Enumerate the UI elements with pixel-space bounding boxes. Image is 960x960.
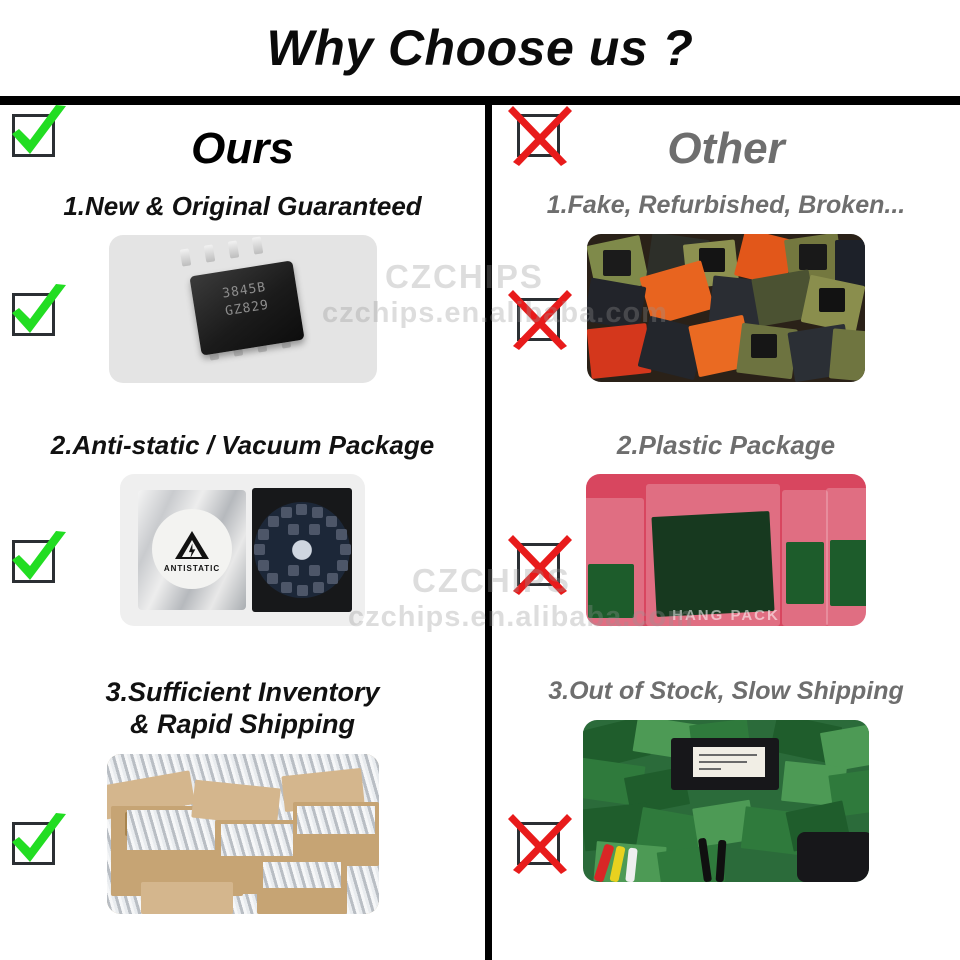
column-other-heading: Other [667, 124, 784, 174]
black-module [671, 738, 779, 790]
page-title-bar: Why Choose us ? [0, 0, 960, 96]
ours-row-3-label-line1: 3.Sufficient Inventory [0, 677, 485, 709]
column-ours-header: Ours [0, 113, 485, 185]
cross-mark-other-header [511, 104, 573, 166]
check-mark-row-2 [6, 530, 68, 592]
new-original-chip-photo: 3845B GZ829 [109, 235, 377, 383]
ours-row-2-label: 2.Anti-static / Vacuum Package [0, 430, 485, 460]
plastic-package-photo: HANG PACK [586, 474, 866, 626]
ours-row-1: 1.New & Original Guaranteed 3845B GZ829 [0, 191, 485, 446]
component-reel-tray [252, 488, 352, 612]
cross-mark-row-1 [511, 288, 573, 350]
ours-row-1-label: 1.New & Original Guaranteed [0, 191, 485, 221]
ours-row-2: 2.Anti-static / Vacuum Package ANTISTATI… [0, 430, 485, 685]
antistatic-bag-label: ANTISTATIC [152, 564, 232, 573]
ours-row-3-label-line2: & Rapid Shipping [0, 709, 485, 741]
chip-marking: 3845B GZ829 [191, 275, 299, 326]
warehouse-boxes-photo [107, 754, 379, 914]
other-row-2-label: 2.Plastic Package [492, 430, 960, 460]
antistatic-label-disc: ANTISTATIC [152, 509, 232, 589]
scrap-chips-photo [587, 234, 865, 382]
check-mark-row-1 [6, 283, 68, 345]
cross-mark-row-2 [511, 533, 573, 595]
check-mark-ours-header [6, 104, 68, 166]
cross-mark-row-3 [511, 812, 573, 874]
other-row-1-label: 1.Fake, Refurbished, Broken... [492, 191, 960, 220]
page-title: Why Choose us ? [267, 19, 694, 77]
other-row-3-label: 3.Out of Stock, Slow Shipping [492, 677, 960, 706]
check-mark-row-3 [6, 812, 68, 874]
ours-row-3: 3.Sufficient Inventory & Rapid Shipping [0, 677, 485, 960]
antistatic-vacuum-package-photo: ANTISTATIC [120, 474, 365, 626]
column-ours-heading: Ours [191, 124, 294, 174]
column-ours: Ours 1.New & Original Guaranteed 3845B G… [0, 105, 485, 960]
pcb-scrap-photo [583, 720, 869, 882]
chip-body: 3845B GZ829 [189, 261, 304, 356]
component-reel [254, 502, 350, 598]
plastic-package-overlay-text: HANG PACK [586, 607, 866, 624]
column-divider-line [485, 101, 492, 960]
antistatic-bag: ANTISTATIC [138, 490, 246, 610]
infographic-canvas: Why Choose us ? Ours 1.New & Original Gu… [0, 0, 960, 960]
header-divider-line [0, 96, 960, 105]
chip-marking-line2: GZ829 [224, 298, 270, 320]
module-label [693, 747, 765, 777]
